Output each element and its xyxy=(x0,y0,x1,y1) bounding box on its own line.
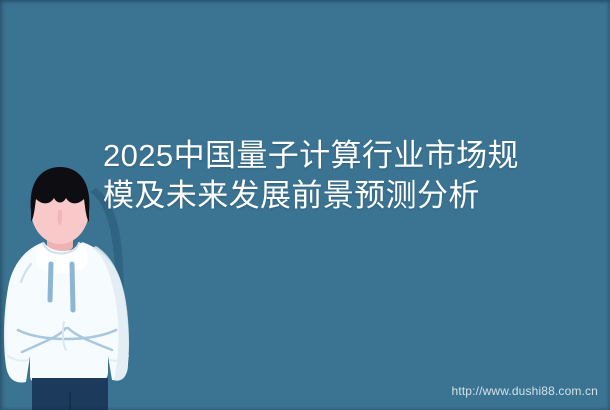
headline-line-1: 2025中国量子计算行业市场规 xyxy=(103,136,573,176)
article-cover-banner: 2025中国量子计算行业市场规 模及未来发展前景预测分析 http://www.… xyxy=(0,0,610,410)
watermark-url: http://www.dushi88.com.cn xyxy=(452,384,598,398)
page-title: 2025中国量子计算行业市场规 模及未来发展前景预测分析 xyxy=(103,136,573,216)
drawstring-left xyxy=(50,264,51,300)
drawstring-right xyxy=(72,264,73,310)
nose xyxy=(58,210,62,225)
headline-line-2: 模及未来发展前景预测分析 xyxy=(103,176,573,216)
